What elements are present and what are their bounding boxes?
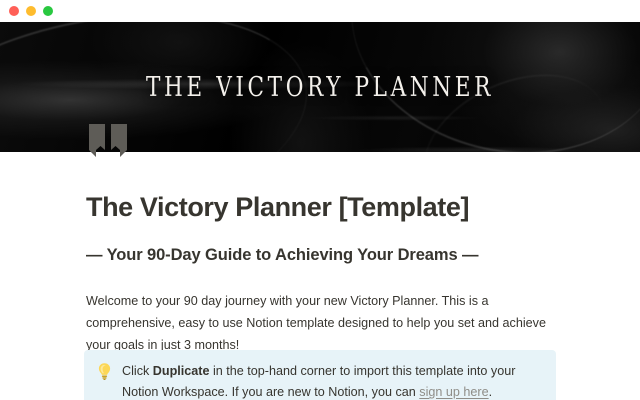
page-subtitle: — Your 90-Day Guide to Achieving Your Dr… [86,246,478,265]
sign-up-here-link[interactable]: sign up here [419,385,488,399]
open-book-icon[interactable] [87,124,129,157]
intro-paragraph: Welcome to your 90 day journey with your… [86,290,556,356]
window-titlebar [0,0,640,22]
page-content: The Victory Planner [Template] — Your 90… [0,152,640,400]
app-window: THE VICTORY PLANNER The Victory Planner … [0,0,640,400]
callout-text: Click Duplicate in the top-hand corner t… [122,361,542,400]
maximize-button[interactable] [43,6,53,16]
callout-text-lead: Click [122,364,153,378]
close-button[interactable] [9,6,19,16]
callout-block[interactable]: Click Duplicate in the top-hand corner t… [84,350,556,400]
hero-banner-title: THE VICTORY PLANNER [64,72,576,103]
callout-bold-word: Duplicate [153,364,210,378]
lightbulb-icon [96,362,113,380]
traffic-light-group [9,6,53,16]
callout-text-end: . [489,385,493,399]
minimize-button[interactable] [26,6,36,16]
page-title: The Victory Planner [Template] [86,192,469,223]
